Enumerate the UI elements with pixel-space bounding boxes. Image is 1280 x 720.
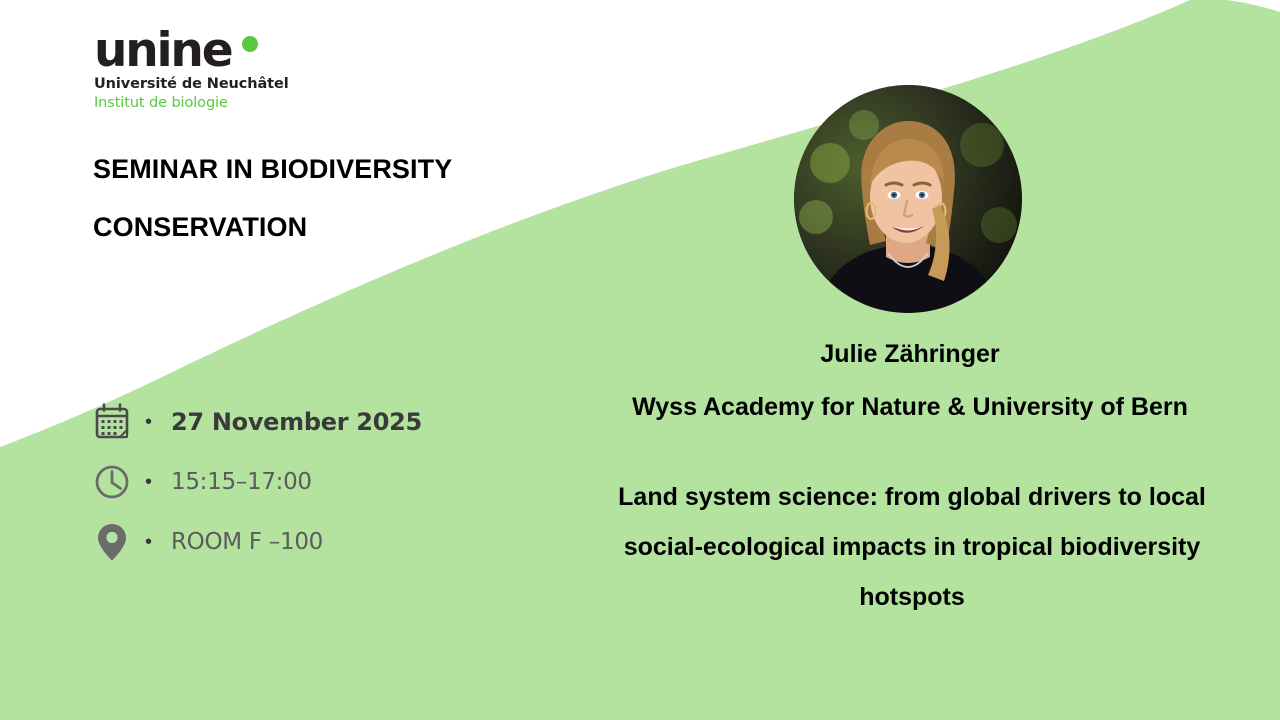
unine-logo: unine Université de Neuchâtel Institut d… [94, 28, 394, 113]
clock-icon [93, 463, 141, 501]
detail-row-date: • 27 November 2025 [93, 392, 523, 452]
detail-bullet: • [141, 532, 171, 552]
detail-row-room: • ROOM F –100 [93, 512, 523, 572]
detail-text-room: ROOM F –100 [171, 529, 323, 555]
location-pin-icon [93, 521, 141, 563]
seminar-poster: unine Université de Neuchâtel Institut d… [0, 0, 1280, 720]
seminar-title: SEMINAR IN BIODIVERSITY CONSERVATION [93, 140, 553, 256]
talk-title-line-2: social-ecological impacts in tropical bi… [562, 522, 1262, 572]
detail-text-date: 27 November 2025 [171, 408, 422, 436]
detail-text-time: 15:15–17:00 [171, 469, 312, 495]
detail-bullet: • [141, 472, 171, 492]
seminar-title-line-1: SEMINAR IN BIODIVERSITY [93, 140, 553, 198]
talk-title: Land system science: from global drivers… [562, 472, 1262, 622]
detail-row-time: • 15:15–17:00 [93, 452, 523, 512]
portrait-illustration [794, 85, 1022, 313]
logo-wordmark-wrap: unine [94, 28, 394, 74]
speaker-info-block: Julie Zähringer Wyss Academy for Nature … [540, 333, 1280, 622]
logo-green-dot-icon [242, 36, 258, 52]
speaker-portrait-photo [794, 85, 1022, 313]
speaker-affiliation: Wyss Academy for Nature & University of … [540, 386, 1280, 428]
logo-wordmark-text: unine [94, 28, 394, 74]
talk-title-line-3: hotspots [562, 572, 1262, 622]
speaker-name: Julie Zähringer [540, 333, 1280, 375]
event-details-list: • 27 November 2025 • 15:15–17:00 • [93, 392, 523, 572]
talk-title-line-1: Land system science: from global drivers… [562, 472, 1262, 522]
logo-institute-line: Institut de biologie [94, 94, 394, 113]
calendar-icon [93, 403, 141, 441]
seminar-title-line-2: CONSERVATION [93, 198, 553, 256]
detail-bullet: • [141, 412, 171, 432]
